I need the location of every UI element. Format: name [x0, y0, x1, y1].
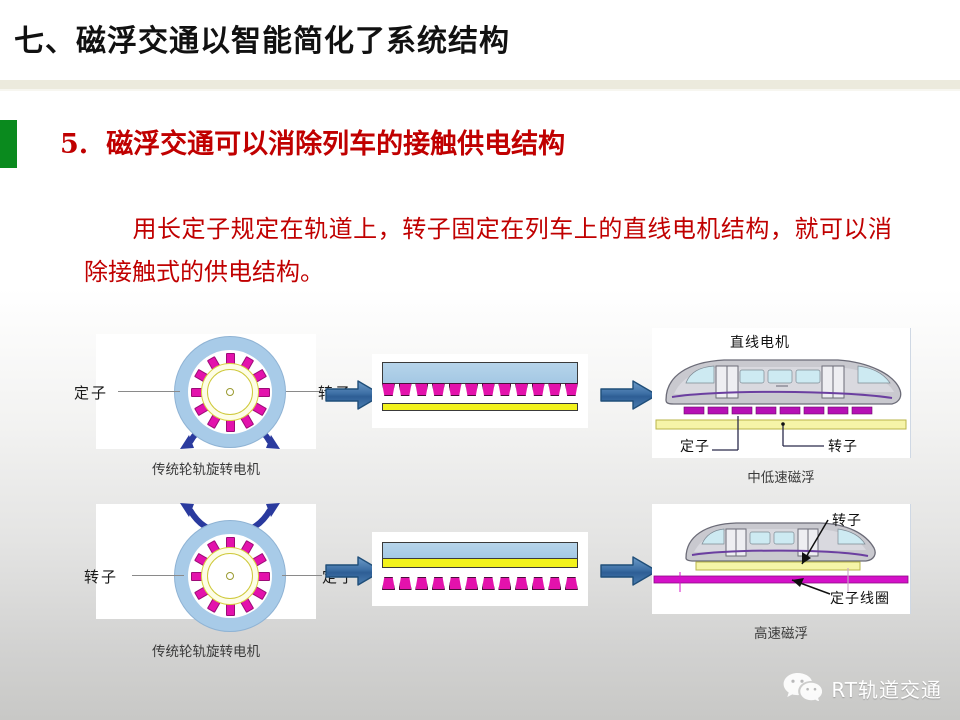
figure-row-1: 定子 转子 传统轮轨旋转电机	[0, 326, 960, 496]
rotary-motor-diagram-2	[174, 520, 286, 632]
caption-rotary-motor-1: 传统轮轨旋转电机	[96, 458, 316, 478]
rotary-motor-diagram-1	[174, 336, 286, 448]
arrow-right-icon-2	[600, 380, 658, 410]
caption-train-2: 高速磁浮	[652, 622, 910, 642]
page-title: 七、磁浮交通以智能简化了系统结构	[14, 16, 510, 60]
title-divider-secondary	[0, 89, 960, 91]
linear-secondary-bar-1	[382, 403, 578, 411]
slide-root: 七、磁浮交通以智能简化了系统结构 5.磁浮交通可以消除列车的接触供电结构 用长定…	[0, 0, 960, 720]
figure-row-2: 转子 定子 传统轮轨旋转电机	[0, 498, 960, 668]
watermark-text: RT轨道交通	[831, 674, 942, 703]
motor-left-label-2: 转子	[84, 566, 118, 587]
train-top-label-1: 直线电机	[730, 332, 790, 352]
body-paragraph: 用长定子规定在轨道上，转子固定在列车上的直线电机结构，就可以消除接触式的供电结构…	[84, 208, 892, 294]
wechat-icon	[782, 671, 822, 706]
linear-motor-panel-1	[372, 354, 588, 428]
train-lower-label-2: 定子线圈	[830, 588, 890, 608]
green-accent-bar	[0, 120, 17, 168]
train-left-label-1: 定子	[680, 436, 710, 456]
stator-leader-line-2	[282, 575, 322, 576]
maglev-train-panel-2: 转子 定子线圈	[652, 504, 911, 614]
linear-teeth-row-1	[382, 383, 578, 396]
linear-secondary-bar-2	[382, 558, 578, 568]
title-divider	[0, 80, 960, 89]
paragraph-text: 用长定子规定在轨道上，转子固定在列车上的直线电机结构，就可以消除接触式的供电结构…	[84, 215, 892, 286]
linear-motor-panel-2	[372, 532, 588, 606]
watermark: RT轨道交通	[782, 671, 942, 706]
linear-primary-bar-1	[382, 362, 578, 384]
linear-teeth-row-2	[382, 577, 578, 590]
section-heading: 5.磁浮交通可以消除列车的接触供电结构	[60, 122, 565, 161]
arrow-right-icon-4	[600, 556, 658, 586]
motor-left-label-1: 定子	[74, 382, 108, 403]
linear-primary-bar-2	[382, 542, 578, 559]
title-bar: 七、磁浮交通以智能简化了系统结构	[0, 0, 960, 82]
rotary-motor-panel-1: 定子 转子	[96, 334, 316, 449]
section-number: 5.	[60, 129, 88, 160]
rotor-leader-line-2	[132, 575, 184, 576]
maglev-train-panel-1: 直线电机 定子 转子	[652, 328, 911, 458]
caption-rotary-motor-2: 传统轮轨旋转电机	[96, 640, 316, 660]
shaft-hub	[226, 388, 234, 396]
caption-train-1: 中低速磁浮	[652, 466, 910, 486]
shaft-hub	[226, 572, 234, 580]
rotary-motor-panel-2: 转子 定子	[96, 504, 316, 619]
train-right-label-1: 转子	[828, 436, 858, 456]
section-heading-text: 磁浮交通可以消除列车的接触供电结构	[106, 129, 565, 160]
rotor-leader-line	[286, 391, 320, 392]
stator-leader-line	[118, 391, 180, 392]
train-upper-label-2: 转子	[832, 510, 862, 530]
figure-area: 定子 转子 传统轮轨旋转电机	[0, 326, 960, 666]
